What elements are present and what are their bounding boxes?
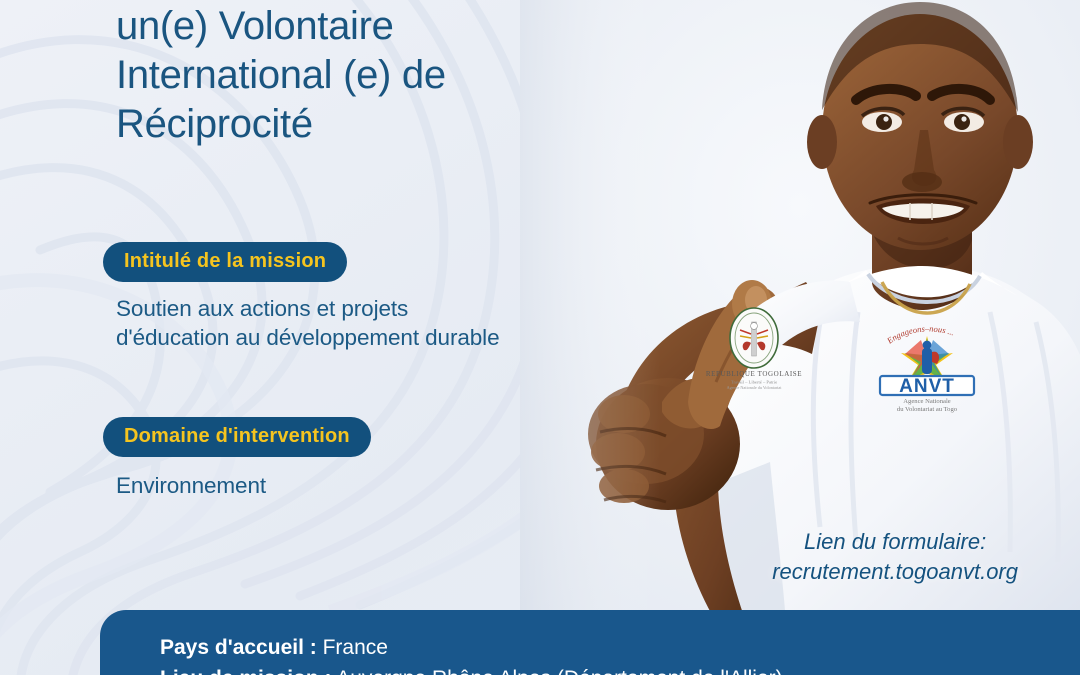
info-row-country: Pays d'accueil : France [160, 632, 1080, 663]
info-label-location: Lieu de mission : [160, 667, 332, 675]
svg-text:REPUBLIQUE TOGOLAISE: REPUBLIQUE TOGOLAISE [706, 370, 802, 378]
mission-description: Soutien aux actions et projets d'éducati… [116, 295, 516, 352]
info-value-location: Auvergne Rhône Alpes (Département de l'A… [336, 667, 782, 675]
republique-togolaise-emblem-icon: REPUBLIQUE TOGOLAISE Travail – Liberté –… [706, 306, 802, 392]
svg-text:du Volontariat au Togo: du Volontariat au Togo [897, 406, 958, 413]
svg-text:Agence Nationale: Agence Nationale [903, 398, 950, 405]
domain-description: Environnement [116, 472, 516, 501]
page-title: RECRUTE un(e) Volontaire International (… [116, 0, 546, 149]
info-bar: Pays d'accueil : France Lieu de mission … [100, 610, 1080, 675]
info-value-country: France [323, 636, 388, 659]
form-link-label: Lien du formulaire: [772, 527, 1018, 557]
info-label-country: Pays d'accueil : [160, 636, 317, 659]
svg-text:Agence Nationale du Volontaria: Agence Nationale du Volontariat [727, 385, 783, 390]
anvt-logo-icon: Engageons–nous ... ANVT Agence Nationale… [866, 318, 988, 414]
svg-text:ANVT: ANVT [899, 376, 955, 397]
form-link-url[interactable]: recrutement.togoanvt.org [772, 557, 1018, 587]
badge-mission-title: Intitulé de la mission [103, 242, 347, 282]
headline-line-3: Réciprocité [116, 100, 546, 149]
svg-text:Travail – Liberté – Patrie: Travail – Liberté – Patrie [731, 380, 777, 385]
headline-line-1: un(e) Volontaire [116, 2, 546, 51]
info-row-location: Lieu de mission : Auvergne Rhône Alpes (… [160, 663, 1080, 675]
headline-line-2: International (e) de [116, 51, 546, 100]
badge-domain-title: Domaine d'intervention [103, 417, 371, 457]
poster-canvas: REPUBLIQUE TOGOLAISE Travail – Liberté –… [0, 0, 1080, 675]
form-link-block[interactable]: Lien du formulaire: recrutement.togoanvt… [772, 527, 1018, 587]
